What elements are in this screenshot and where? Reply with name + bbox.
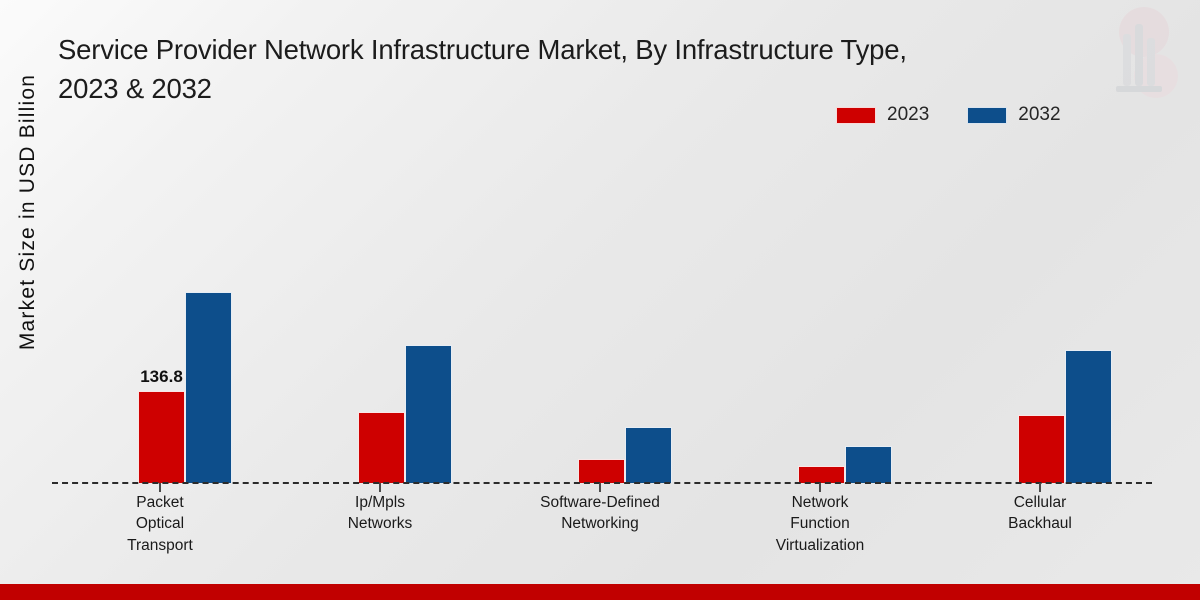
x-axis-category-label-4: Network Function Virtualization (710, 492, 930, 556)
legend-swatch-2032 (967, 107, 1007, 124)
chart-title: Service Provider Network Infrastructure … (58, 30, 1118, 108)
x-axis-tick-3 (599, 483, 601, 492)
bar-2032-software-defined-networking[interactable] (625, 427, 672, 483)
chart-figure: Service Provider Network Infrastructure … (0, 0, 1200, 600)
plot-area: 136.8 (52, 150, 1152, 483)
legend-item-2032[interactable]: 2032 (967, 104, 1060, 126)
bar-2023-network-function-virtualization[interactable] (798, 466, 845, 483)
bar-group-software-defined-networking (570, 150, 680, 483)
legend-item-2023[interactable]: 2023 (836, 104, 929, 126)
bar-group-network-function-virtualization (790, 150, 900, 483)
legend-swatch-2023 (836, 107, 876, 124)
bar-group-cellular-backhaul (1010, 150, 1120, 483)
chart-legend: 2023 2032 (836, 104, 1061, 126)
bar-2032-cellular-backhaul[interactable] (1065, 350, 1112, 483)
bar-group-packet-optical-transport: 136.8 (130, 150, 240, 483)
bar-group-ip-mpls-networks (350, 150, 460, 483)
bar-value-label-2023-packet-optical-transport: 136.8 (140, 367, 183, 387)
x-axis-tick-5 (1039, 483, 1041, 492)
x-axis-tick-2 (379, 483, 381, 492)
bar-2032-packet-optical-transport[interactable] (185, 292, 232, 483)
x-axis-category-label-5: Cellular Backhaul (930, 492, 1150, 535)
footer-accent-band (0, 584, 1200, 600)
x-axis-category-label-3: Software-Defined Networking (490, 492, 710, 535)
legend-label-2032: 2032 (1018, 104, 1060, 126)
bar-2032-ip-mpls-networks[interactable] (405, 345, 452, 483)
x-axis-category-label-2: Ip/Mpls Networks (270, 492, 490, 535)
x-axis-baseline (52, 482, 1152, 484)
bar-2032-network-function-virtualization[interactable] (845, 446, 892, 483)
legend-label-2023: 2023 (887, 104, 929, 126)
x-axis-category-label-1: Packet Optical Transport (50, 492, 270, 556)
y-axis-label: Market Size in USD Billion (16, 32, 40, 392)
x-axis-tick-1 (159, 483, 161, 492)
x-axis-tick-4 (819, 483, 821, 492)
bar-2023-packet-optical-transport[interactable]: 136.8 (138, 391, 185, 483)
bar-2023-ip-mpls-networks[interactable] (358, 412, 405, 483)
bar-2023-cellular-backhaul[interactable] (1018, 415, 1065, 483)
bar-2023-software-defined-networking[interactable] (578, 459, 625, 483)
